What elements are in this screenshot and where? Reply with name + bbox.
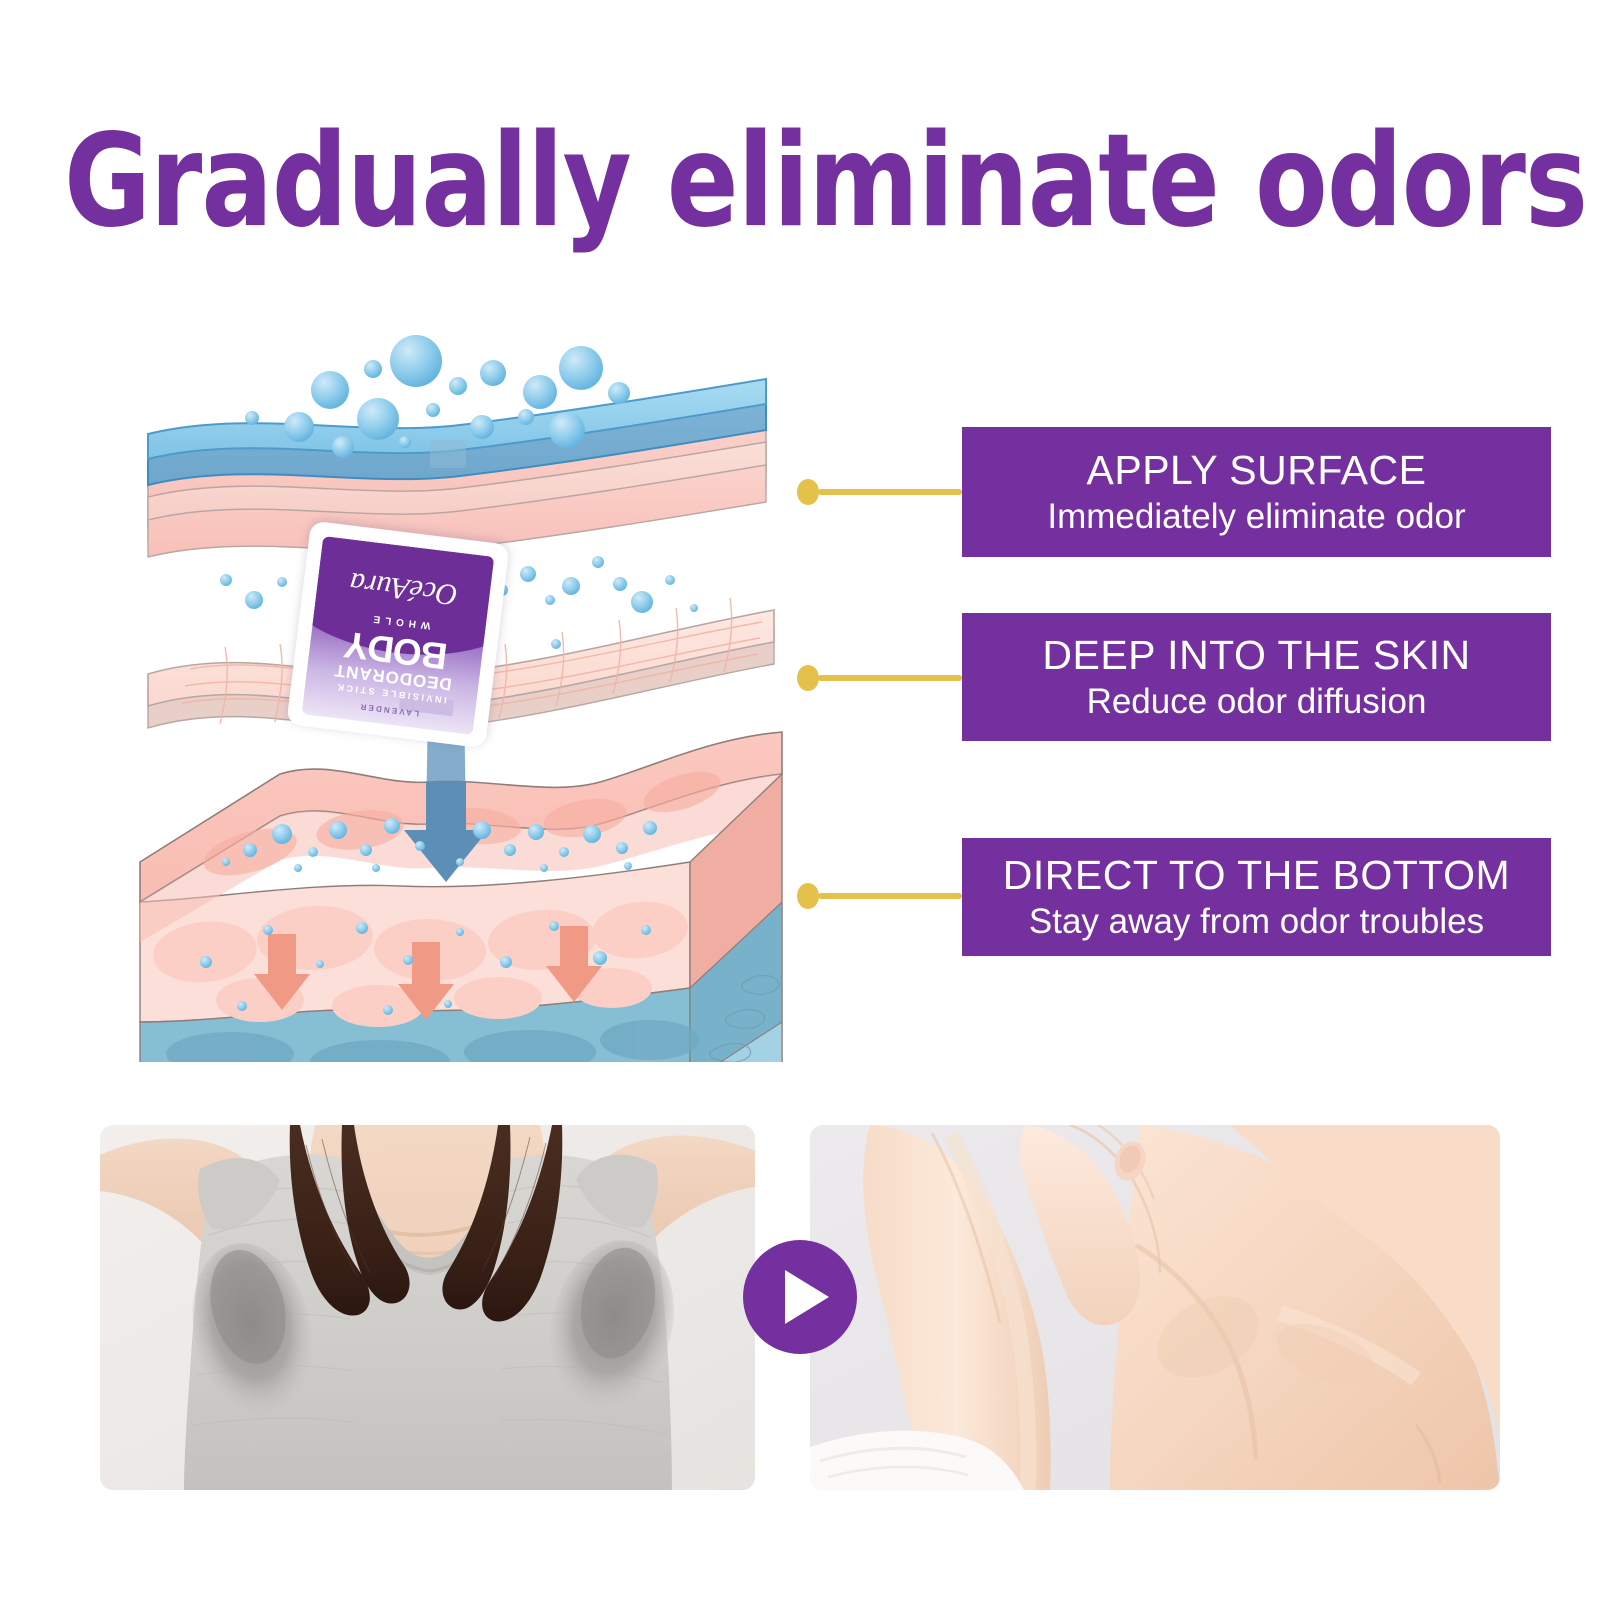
package-label: LAVENDER INVISIBLE STICK DEODORANT BODY … bbox=[302, 536, 495, 735]
play-triangle-icon bbox=[785, 1270, 829, 1324]
play-button[interactable] bbox=[743, 1240, 857, 1354]
infographic-canvas: Gradually eliminate odors bbox=[0, 0, 1600, 1600]
callout-subtitle: Stay away from odor troubles bbox=[1029, 900, 1484, 944]
callout-title: APPLY SURFACE bbox=[1087, 445, 1427, 495]
photo-before-sweat-stains bbox=[100, 1125, 755, 1490]
connector-line-3 bbox=[818, 893, 962, 899]
callout-deep-into-the-skin: DEEP INTO THE SKIN Reduce odor diffusion bbox=[962, 613, 1551, 741]
connector-dot-3 bbox=[797, 883, 819, 909]
connector-dot-2 bbox=[797, 665, 819, 691]
connector-dot-1 bbox=[797, 479, 819, 505]
photo-after-clean-underarm bbox=[810, 1125, 1500, 1490]
callout-title: DIRECT TO THE BOTTOM bbox=[1003, 850, 1510, 900]
connector-line-2 bbox=[818, 675, 962, 681]
package-body: LAVENDER INVISIBLE STICK DEODORANT BODY … bbox=[286, 521, 509, 749]
skin-layer-diagram: LAVENDER INVISIBLE STICK DEODORANT BODY … bbox=[130, 262, 790, 1062]
callout-apply-surface: APPLY SURFACE Immediately eliminate odor bbox=[962, 427, 1551, 557]
callout-direct-to-the-bottom: DIRECT TO THE BOTTOM Stay away from odor… bbox=[962, 838, 1551, 956]
callout-title: DEEP INTO THE SKIN bbox=[1042, 630, 1470, 680]
product-package: LAVENDER INVISIBLE STICK DEODORANT BODY … bbox=[286, 521, 509, 749]
page-title: Gradually eliminate odors bbox=[64, 112, 1536, 252]
callout-subtitle: Reduce odor diffusion bbox=[1087, 680, 1427, 724]
callout-subtitle: Immediately eliminate odor bbox=[1047, 495, 1465, 539]
connector-line-1 bbox=[818, 489, 962, 495]
